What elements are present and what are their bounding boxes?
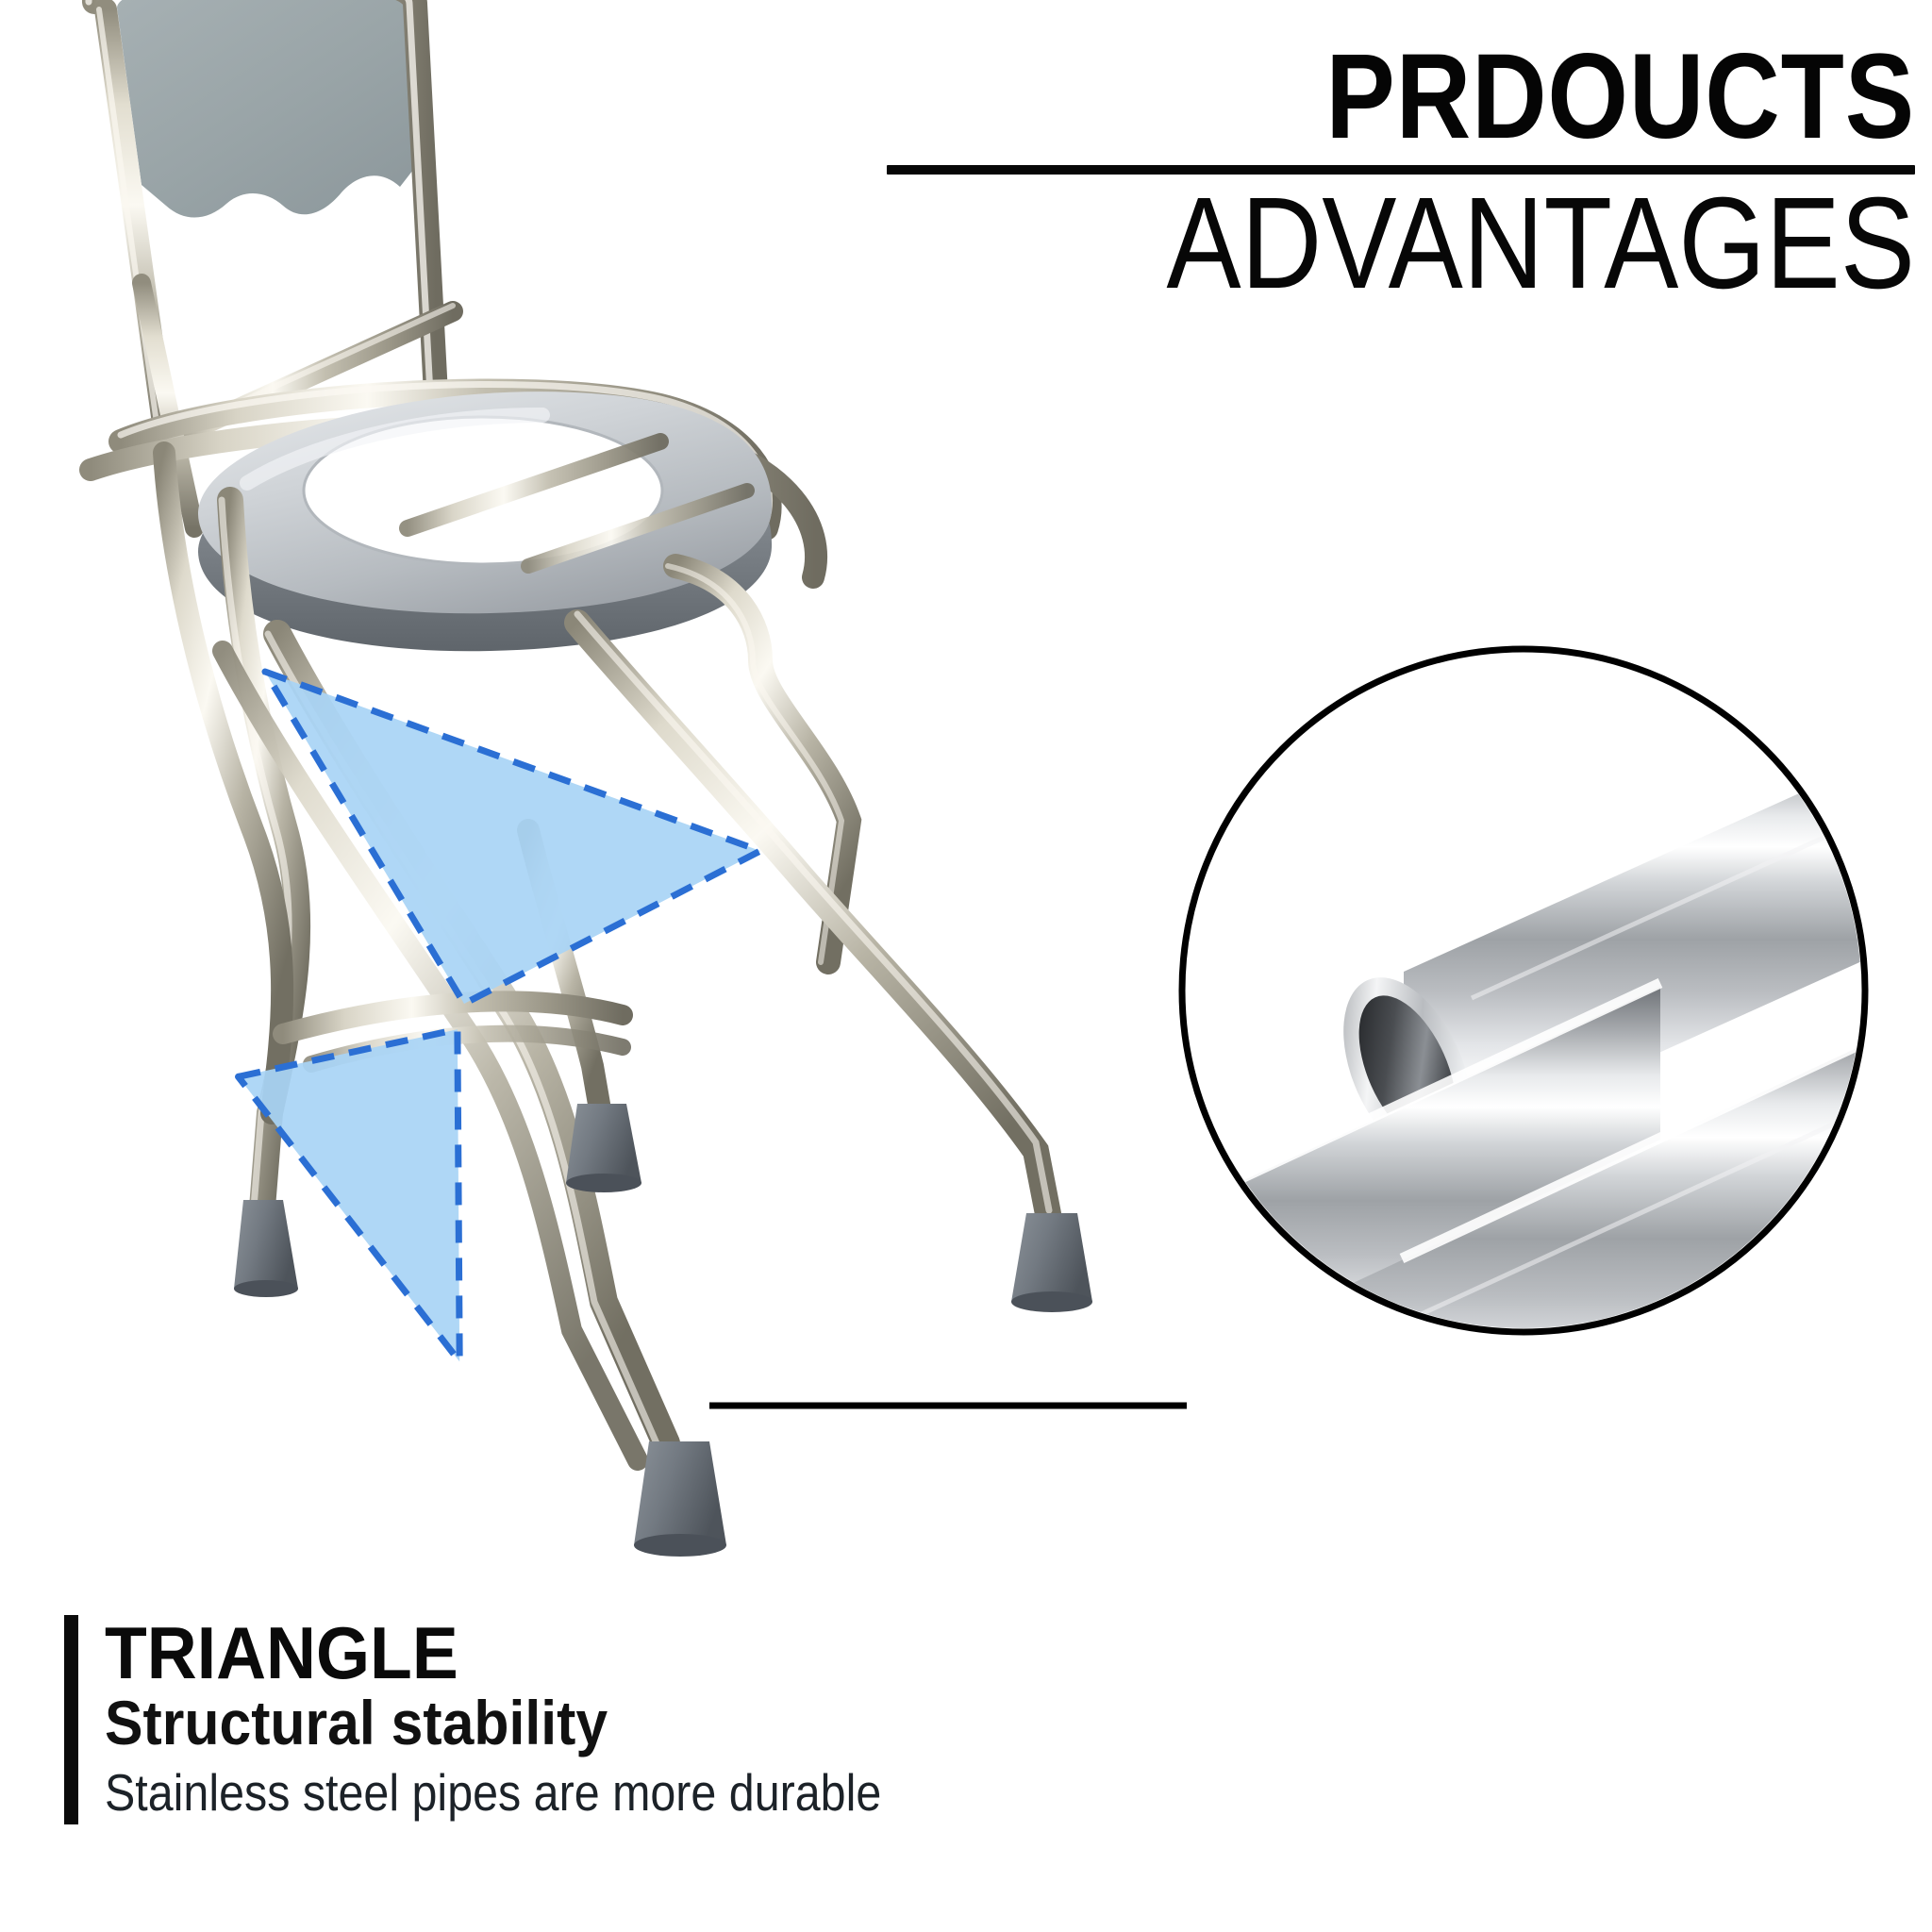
chair-legs: [164, 453, 1049, 1460]
page-title-secondary: ADVANTAGES: [1031, 178, 1915, 308]
chair-rubber-feet: [234, 1104, 1092, 1557]
poster-heading: PRDOUCTS ADVANTAGES: [887, 38, 1915, 308]
chair-back-frame: [89, 0, 453, 528]
lower-stability-triangle: [237, 1029, 469, 1369]
chair-seat-frame: [91, 385, 816, 577]
chair-lower-rail: [668, 566, 849, 962]
steel-pipe-top: [1318, 723, 1932, 1182]
commode-seat: [198, 391, 772, 651]
page-title-primary: PRDOUCTS: [1031, 38, 1915, 156]
caption-title: TRIANGLE: [105, 1617, 934, 1689]
caption-subtitle: Structural stability: [105, 1689, 917, 1758]
foot-rear-left: [234, 1200, 298, 1289]
foot-front: [634, 1441, 726, 1545]
feature-caption-block: TRIANGLE Structural stability Stainless …: [64, 1615, 1008, 1824]
foot-middle: [566, 1104, 641, 1183]
caption-description: Stainless steel pipes are more durable: [105, 1758, 881, 1824]
poster-canvas: PRDOUCTS ADVANTAGES TRIANGLE Structural …: [0, 0, 1932, 1932]
chair-backrest: [117, 0, 413, 218]
caption-accent-bar: [64, 1615, 78, 1824]
upper-stability-triangle: [265, 672, 760, 1004]
foot-rear-right: [1011, 1213, 1092, 1302]
stainless-steel-pipes: [1047, 651, 1932, 1502]
steel-pipe-right: [1263, 1006, 1932, 1502]
chair-under-brace: [408, 441, 747, 566]
callout-circle-outline: [1182, 649, 1865, 1332]
steel-pipe-left: [1047, 983, 1660, 1445]
caption-text-group: TRIANGLE Structural stability Stainless …: [105, 1615, 988, 1824]
